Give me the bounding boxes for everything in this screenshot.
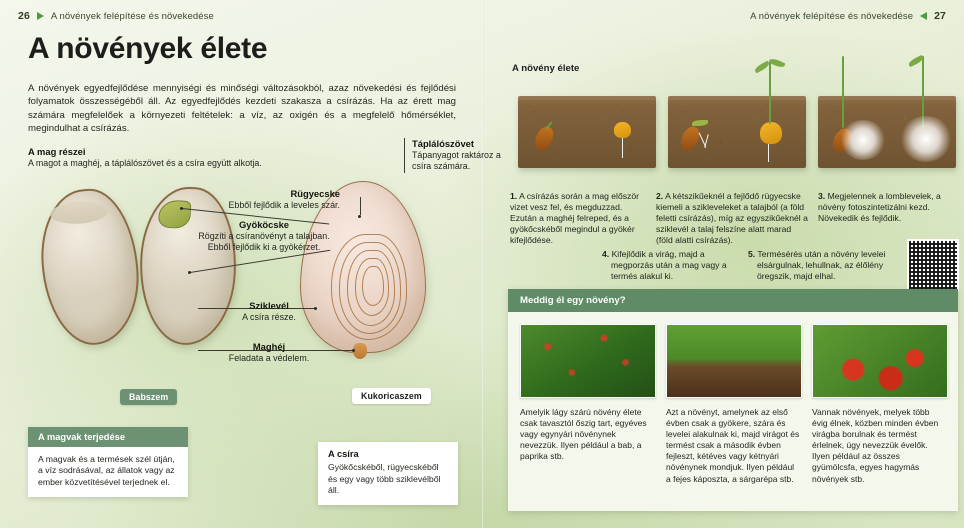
step-4: 4. Kifejlődik a virág, majd a megporzás …	[602, 249, 747, 283]
label-sziklevel: Sziklevél A csíra része.	[198, 300, 340, 323]
corn-ring-5	[362, 266, 384, 306]
corn-tip-cap	[353, 343, 367, 359]
page-title: A növények élete	[28, 32, 267, 66]
step-number: 4.	[602, 249, 609, 259]
label-rugyecske: Rügyecske Ebből fejlődik a leveles szár.	[188, 188, 340, 211]
bean-shoot-stage3	[842, 56, 844, 128]
leader-dot-gyokocske	[188, 271, 191, 274]
bean-embryo	[158, 199, 191, 229]
bean-seed-half-left	[37, 186, 144, 348]
step-text: Megjelennek a lomblevelek, a növény foto…	[818, 191, 941, 223]
bean-cotyledon-stage2	[692, 120, 708, 126]
corn-rootball-stage3	[900, 116, 952, 162]
infobox-a-magvak-terjedese: A magvak terjedése A magvak és a termése…	[28, 427, 188, 497]
panel-meddig-el-egy-noveny: Meddig él egy növény? Amelyik lágy szárú…	[508, 289, 958, 511]
folio-right: 27	[934, 10, 946, 22]
running-head-right-text: A növények felépítése és növekedése	[750, 11, 913, 22]
panel-columns: Amelyik lágy szárú növény élete csak tav…	[508, 312, 958, 497]
step-text: Kifejlődik a virág, majd a megporzás utá…	[611, 249, 727, 281]
section-title-a-noveny-elete: A növény élete	[512, 63, 579, 74]
panel-header: Meddig él egy növény?	[508, 289, 958, 312]
bean-plants-photo	[520, 324, 656, 398]
label-maghej: Maghéj Feladata a védelem.	[198, 341, 340, 364]
running-head-left-text: A növények felépítése és növekedése	[51, 11, 214, 22]
triangle-left-icon	[920, 12, 927, 20]
bean-seed-stage1	[532, 124, 556, 153]
leader-dot-rugyecske	[180, 207, 183, 210]
panel-caption: Azt a növényt, amelynek az első évben cs…	[666, 407, 800, 485]
infobox-body: A magvak és a termések szél útján, a víz…	[28, 447, 188, 497]
corn-leaf-b-stage2	[768, 57, 785, 69]
label-body: Ebből fejlődik a leveles szár.	[188, 200, 340, 211]
qr-code-icon[interactable]	[907, 239, 959, 291]
apple-tree-photo	[812, 324, 948, 398]
label-heading: Sziklevél	[198, 300, 340, 311]
label-gyokocske: Gyököcske Rögzíti a csíranövényt a talaj…	[188, 219, 340, 254]
label-heading: Gyököcske	[188, 219, 340, 230]
label-a-mag-reszei: A mag részei A magot a maghéj, a tápláló…	[28, 146, 328, 169]
step-number: 2.	[656, 191, 663, 201]
infobox-header: A magvak terjedése	[28, 427, 188, 447]
panel-column: Vannak növények, melyek több évig élnek,…	[812, 324, 946, 485]
bean-rootball-stage3	[840, 120, 886, 160]
running-head-left: 26 A növények felépítése és növekedése	[18, 10, 214, 22]
label-body: Rögzíti a csíranövényt a talajban. Ebből…	[188, 231, 340, 254]
caption-chip-kukoricaszem: Kukoricaszem	[352, 388, 431, 404]
panel-column: Amelyik lágy szárú növény élete csak tav…	[520, 324, 654, 485]
infobox-body: Gyökőcskéből, rügyecskéből és egy vagy t…	[328, 462, 441, 495]
corn-seed-stage1	[614, 122, 631, 138]
caption-chip-babszem: Babszem	[120, 389, 177, 405]
step-text: A csírázás során a mag először vizet ves…	[510, 191, 639, 246]
label-body: Feladata a védelem.	[198, 353, 340, 364]
panel-column: Azt a növényt, amelynek az első évben cs…	[666, 324, 800, 485]
leader-line-taplaloszovet	[360, 197, 361, 215]
step-text: A kétszikűeknél a fejlődő rügyecske kiem…	[656, 191, 808, 246]
leader-dot-taplaloszovet	[358, 215, 361, 218]
step-3: 3. Megjelennek a lomblevelek, a növény f…	[818, 191, 958, 225]
label-heading: Rügyecske	[188, 188, 340, 199]
step-2: 2. A kétszikűeknél a fejlődő rügyecske k…	[656, 191, 808, 247]
corn-root-stage1	[622, 138, 623, 158]
corn-shoot-stage2	[769, 62, 771, 124]
germination-stage-1-illustration	[518, 96, 656, 168]
label-body: A magot a maghéj, a táplálószövet és a c…	[28, 158, 328, 169]
step-text: Termésérés után a növény levelei elsárgu…	[757, 249, 885, 281]
folio-left: 26	[18, 10, 30, 22]
qr-code-matrix	[909, 241, 957, 289]
carrot-field-photo	[666, 324, 802, 398]
intro-paragraph: A növények egyedfejlődése mennyiségi és …	[28, 82, 456, 136]
leader-dot-maghej	[352, 349, 355, 352]
step-number: 1.	[510, 191, 517, 201]
label-body: Tápanyagot raktároz a csíra számára.	[412, 150, 506, 173]
germination-stage-3-illustration	[818, 96, 956, 168]
triangle-right-icon	[37, 12, 44, 20]
label-taplaloszovet: Táplálószövet Tápanyagot raktároz a csír…	[404, 138, 506, 173]
germination-stage-2-illustration	[668, 96, 806, 168]
panel-caption: Vannak növények, melyek több évig élnek,…	[812, 407, 946, 485]
bean-seed-stage2	[678, 124, 702, 153]
step-number: 3.	[818, 191, 825, 201]
label-heading: A mag részei	[28, 146, 328, 157]
page-gutter	[482, 0, 484, 528]
infobox-header: A csíra	[328, 449, 448, 460]
label-heading: Táplálószövet	[412, 138, 506, 149]
step-number: 5.	[748, 249, 755, 259]
label-body: A csíra része.	[198, 312, 340, 323]
label-heading: Maghéj	[198, 341, 340, 352]
corn-seed-stage2	[760, 122, 782, 144]
textbook-spread: 26 A növények felépítése és növekedése A…	[0, 0, 964, 528]
bean-root2-stage2	[704, 134, 709, 148]
panel-caption: Amelyik lágy szárú növény élete csak tav…	[520, 407, 654, 462]
infobox-body-wrap: A csíra Gyökőcskéből, rügyecskéből és eg…	[318, 442, 458, 505]
running-head-right: A növények felépítése és növekedése 27	[750, 10, 946, 22]
step-5: 5. Termésérés után a növény levelei elsá…	[748, 249, 905, 283]
corn-root-stage2	[768, 144, 769, 162]
infobox-a-csira: A csíra Gyökőcskéből, rügyecskéből és eg…	[318, 442, 458, 505]
step-1: 1. A csírázás során a mag először vizet …	[510, 191, 650, 247]
